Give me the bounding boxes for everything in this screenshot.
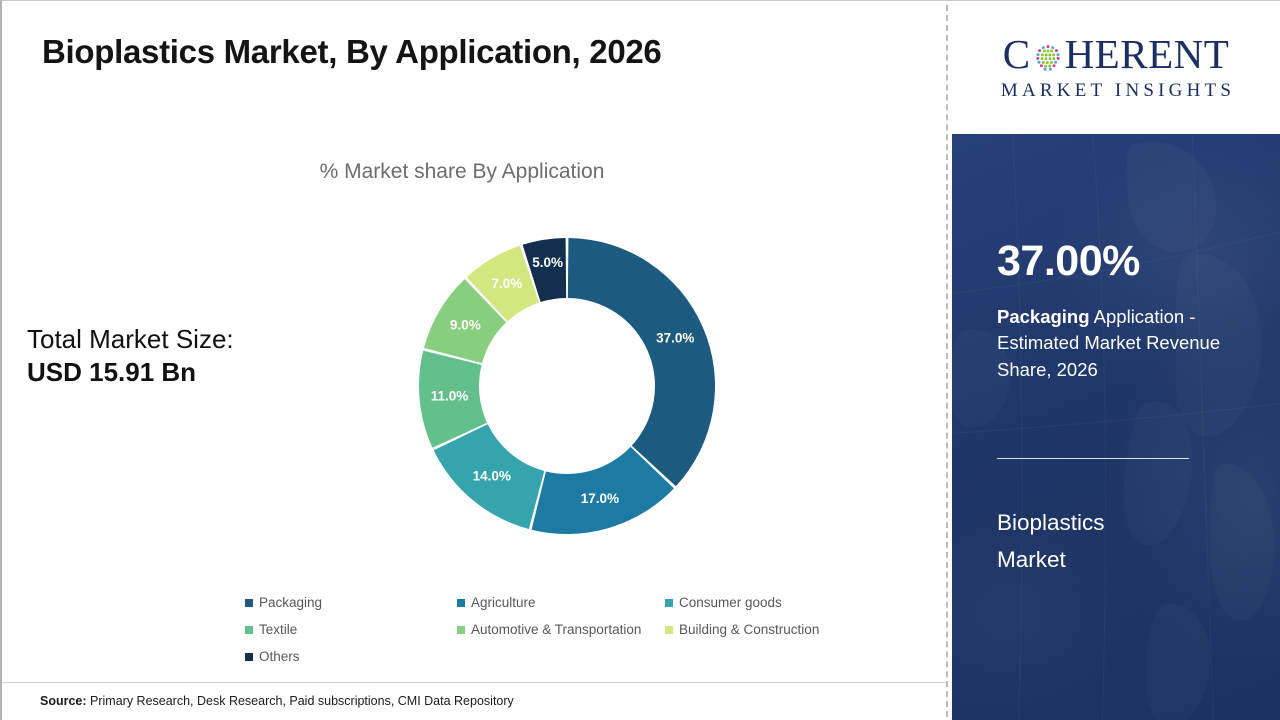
legend-row: Others (245, 649, 885, 676)
donut-slice-label: 9.0% (450, 317, 481, 332)
source-line: Source: Primary Research, Desk Research,… (40, 694, 514, 708)
legend-swatch-icon (245, 599, 253, 607)
legend-label: Textile (259, 622, 297, 637)
legend-item-agriculture[interactable]: Agriculture (457, 595, 665, 610)
donut-slice-label: 14.0% (473, 468, 511, 483)
legend-item-others[interactable]: Others (245, 649, 457, 664)
donut-slice-label: 11.0% (431, 389, 469, 404)
logo-word-rest: HERENT (1065, 34, 1230, 75)
legend-swatch-icon (457, 626, 465, 634)
total-market-size-label: Total Market Size: (27, 323, 234, 356)
legend-swatch-icon (245, 626, 253, 634)
sidebar-stat-panel: 37.00% Packaging Application - Estimated… (952, 134, 1280, 720)
total-market-size-block: Total Market Size: USD 15.91 Bn (27, 323, 234, 389)
sidebar-subject-line-2: Market (997, 541, 1227, 578)
legend-item-textile[interactable]: Textile (245, 622, 457, 637)
chart-legend: Packaging Agriculture Consumer goods Tex… (245, 595, 885, 676)
total-market-size-value: USD 15.91 Bn (27, 356, 234, 390)
donut-slice-label: 7.0% (492, 276, 523, 291)
stat-description: Packaging Application - Estimated Market… (997, 304, 1237, 383)
stat-description-highlight: Packaging (997, 306, 1090, 327)
sidebar-content: 37.00% Packaging Application - Estimated… (997, 134, 1247, 720)
legend-swatch-icon (245, 653, 253, 661)
brand-logo[interactable]: C (952, 1, 1280, 134)
legend-row: Textile Automotive & Transportation Buil… (245, 622, 885, 649)
donut-slices (419, 238, 715, 534)
vertical-dashed-divider (946, 5, 948, 717)
donut-slice-label: 5.0% (532, 255, 563, 270)
legend-swatch-icon (665, 599, 673, 607)
donut-chart: 37.0%17.0%14.0%11.0%9.0%7.0%5.0% (397, 216, 737, 556)
legend-swatch-icon (665, 626, 673, 634)
legend-label: Agriculture (471, 595, 536, 610)
right-sidebar: C (952, 1, 1280, 720)
legend-swatch-icon (457, 599, 465, 607)
legend-item-building-construction[interactable]: Building & Construction (665, 622, 819, 637)
legend-label: Packaging (259, 595, 322, 610)
main-content-area: Bioplastics Market, By Application, 2026… (2, 1, 947, 720)
sidebar-subject-line-1: Bioplastics (997, 504, 1227, 541)
sidebar-subject: Bioplastics Market (997, 504, 1227, 579)
legend-label: Others (259, 649, 300, 664)
legend-item-automotive-transportation[interactable]: Automotive & Transportation (457, 622, 665, 637)
logo-tagline: MARKET INSIGHTS (997, 80, 1235, 102)
page-title: Bioplastics Market, By Application, 2026 (42, 33, 661, 71)
legend-row: Packaging Agriculture Consumer goods (245, 595, 885, 622)
chart-subtitle: % Market share By Application (2, 160, 922, 184)
stat-value: 37.00% (997, 240, 1140, 283)
legend-item-consumer-goods[interactable]: Consumer goods (665, 595, 782, 610)
legend-label: Building & Construction (679, 622, 819, 637)
donut-slice-label: 17.0% (581, 491, 619, 506)
donut-slice[interactable] (568, 238, 715, 486)
logo-letter-c: C (1003, 34, 1031, 75)
donut-chart-svg: 37.0%17.0%14.0%11.0%9.0%7.0%5.0% (397, 216, 737, 556)
infographic-page: Bioplastics Market, By Application, 2026… (0, 0, 1280, 720)
source-label: Source: (40, 694, 87, 708)
globe-dots-icon (1032, 40, 1064, 72)
legend-label: Consumer goods (679, 595, 782, 610)
sidebar-divider-rule (997, 458, 1189, 459)
legend-item-packaging[interactable]: Packaging (245, 595, 457, 610)
footer-divider (2, 682, 947, 683)
logo-wordmark: C (1003, 34, 1230, 75)
legend-label: Automotive & Transportation (471, 622, 641, 637)
source-text: Primary Research, Desk Research, Paid su… (87, 694, 514, 708)
donut-slice-label: 37.0% (656, 331, 694, 346)
